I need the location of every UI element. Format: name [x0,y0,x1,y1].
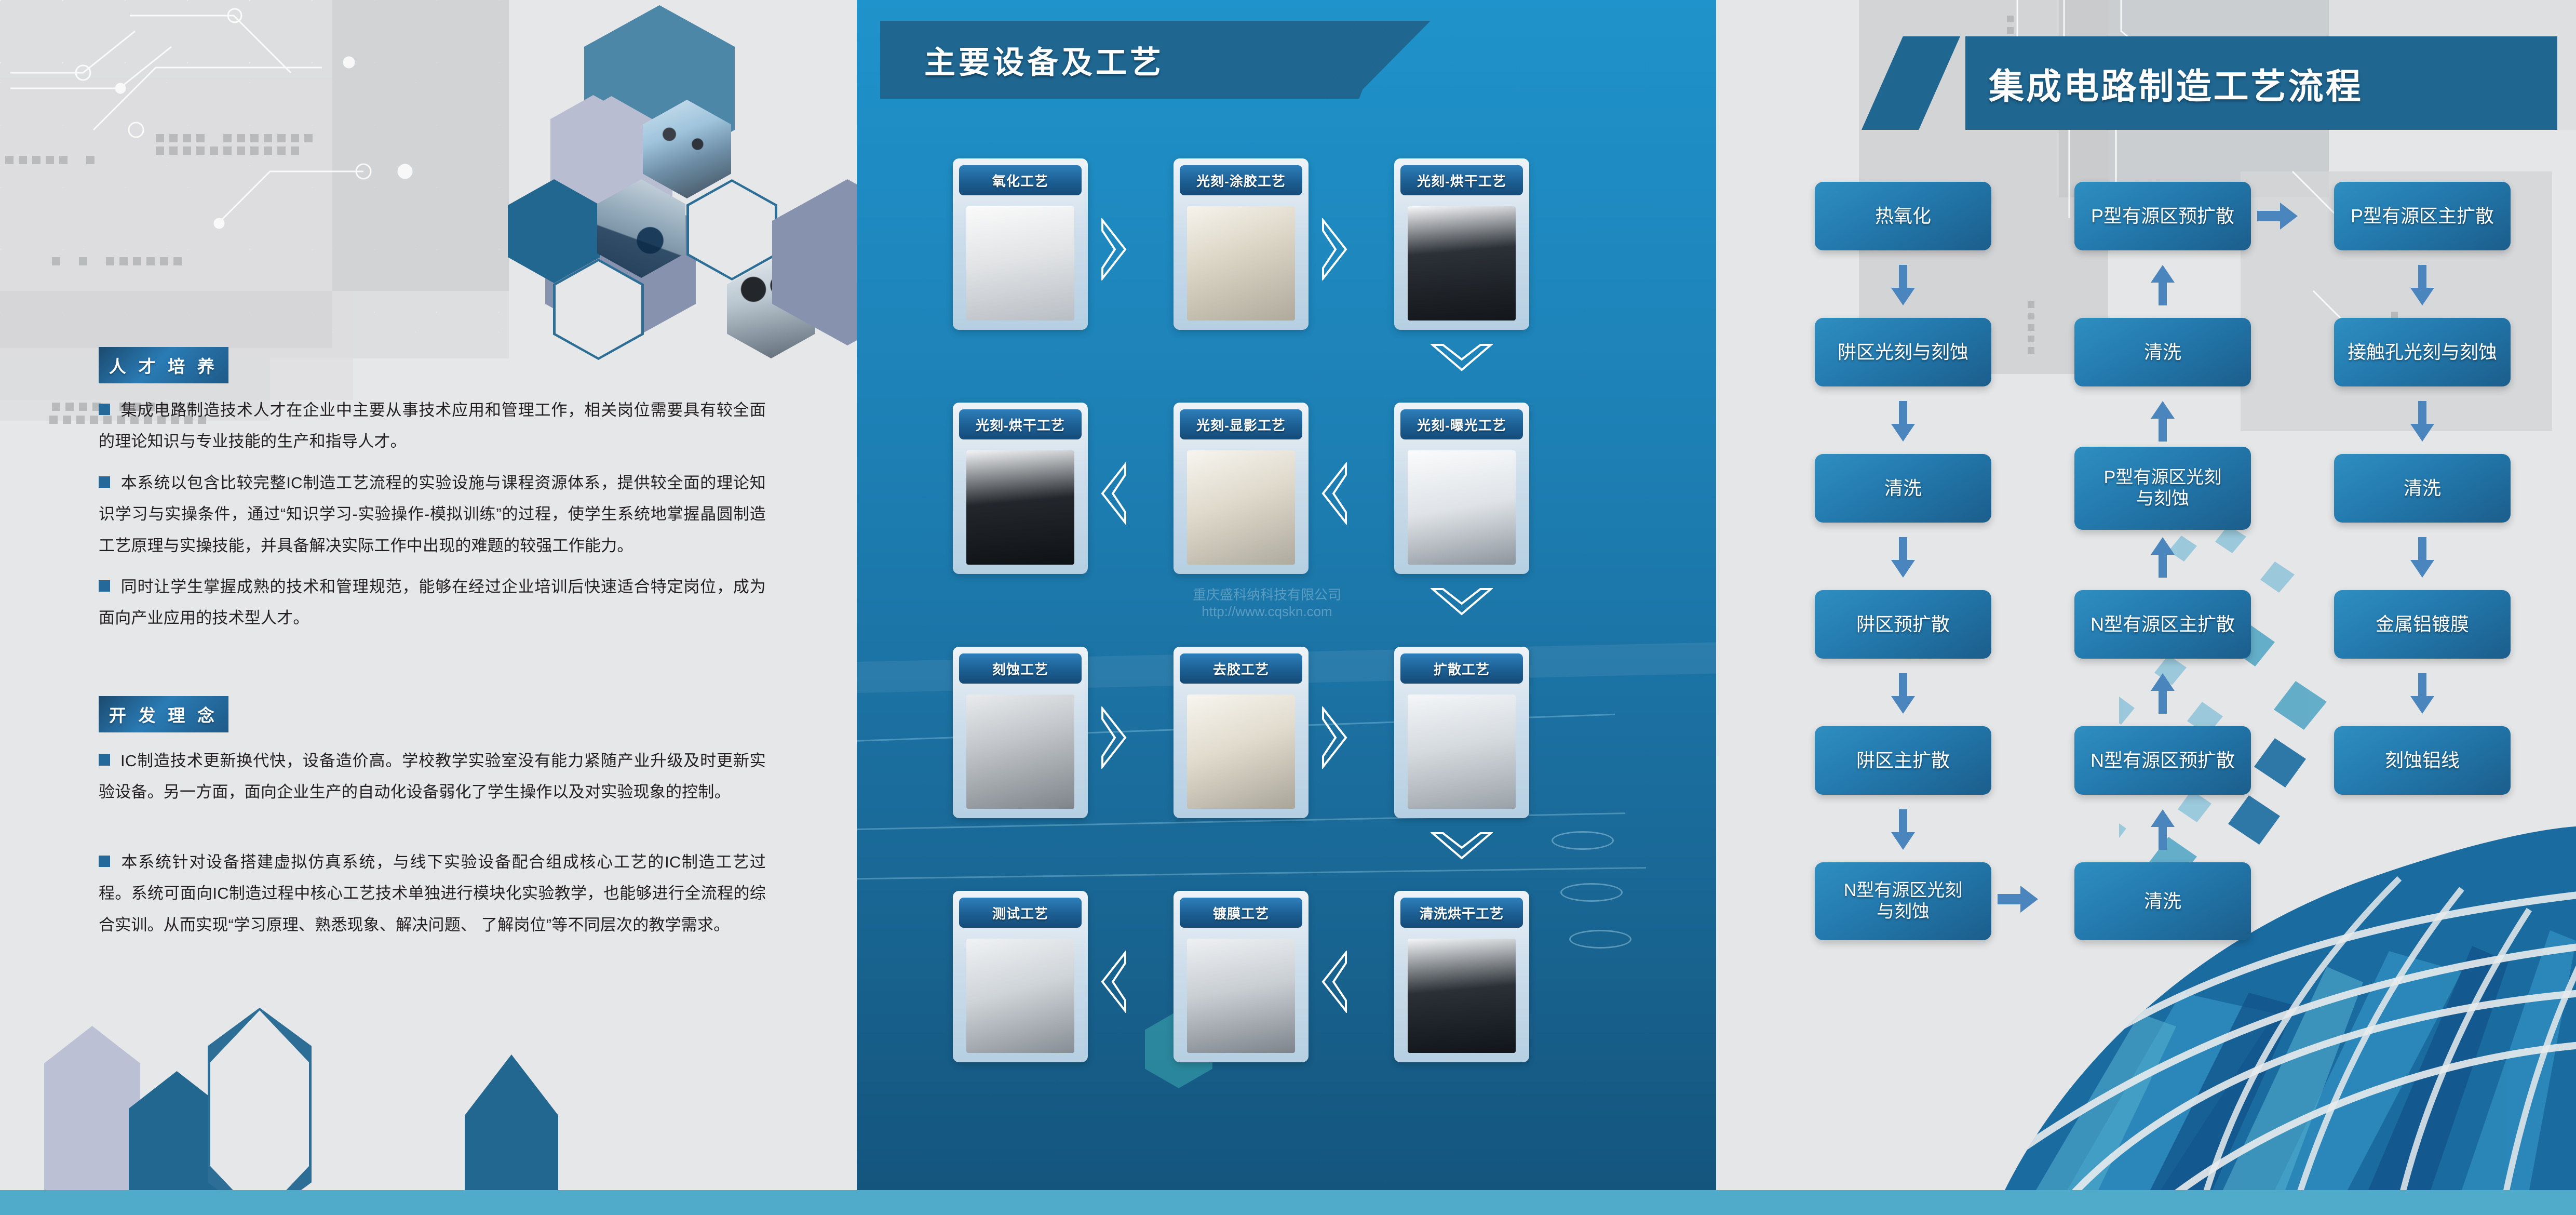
arrow-up-icon [2151,537,2175,578]
paragraph-text: 本系统针对设备搭建虚拟仿真系统，与线下实验设备配合组成核心工艺的IC制造工艺过程… [99,853,766,934]
equipment-label: 氧化工艺 [959,165,1082,195]
equipment-photo [1187,939,1295,1053]
paragraph-concept-2: 本系统针对设备搭建虚拟仿真系统，与线下实验设备配合组成核心工艺的IC制造工艺过程… [99,847,766,941]
arrow-up-icon [2151,673,2175,714]
paragraph-concept-1: IC制造技术更新换代快，设备造价高。学校教学实验室没有能力紧随产业升级及时更新实… [99,745,766,808]
equipment-card[interactable]: 扩散工艺 [1394,647,1529,818]
equipment-card[interactable]: 刻蚀工艺 [953,647,1088,818]
arrow-left-icon [1099,462,1128,525]
flow-box[interactable]: 阱区预扩散 [1815,590,1991,659]
paragraph-text: IC制造技术更新换代快，设备造价高。学校教学实验室没有能力紧随产业升级及时更新实… [99,752,766,801]
equipment-label: 测试工艺 [959,898,1082,928]
arrow-down-icon [1891,401,1915,442]
flow-box[interactable]: 阱区光刻与刻蚀 [1815,318,1991,386]
equipment-card[interactable]: 测试工艺 [953,891,1088,1062]
equipment-card[interactable]: 光刻-涂胶工艺 [1174,158,1309,330]
flow-box[interactable]: N型有源区预扩散 [2074,726,2251,795]
arrow-down-icon [1891,537,1915,578]
flow-box[interactable]: 刻蚀铝线 [2334,726,2511,795]
equipment-photo [1187,206,1295,321]
equipment-card[interactable]: 光刻-曝光工艺 [1394,403,1529,574]
hex-bottom-blue-2 [465,1054,558,1190]
arrow-down-icon [2410,265,2434,305]
equipment-card[interactable]: 光刻-显影工艺 [1174,403,1309,574]
equipment-row: 刻蚀工艺 去胶工艺 扩散工艺 [896,639,1675,883]
equipment-card[interactable]: 镀膜工艺 [1174,891,1309,1062]
right-panel-title-banner: 集成电路制造工艺流程 [1862,36,2557,130]
process-flowchart: 热氧化 阱区光刻与刻蚀 清洗 阱区预扩散 阱区主扩散 N型有源区光刻 与刻蚀 P… [1815,182,2552,951]
equipment-photo [966,695,1074,809]
arrow-down-icon [1891,809,1915,850]
bullet-icon [99,404,110,415]
equipment-photo [1408,450,1516,565]
hex-bottom-lavender [44,1026,140,1190]
left-panel: 人 才 培 养 集成电路制造技术人才在企业中主要从事技术应用和管理工作，相关岗位… [0,0,857,1190]
arrow-down-icon [2410,401,2434,442]
equipment-label: 光刻-涂胶工艺 [1180,165,1302,195]
arrow-left-icon [1099,951,1128,1013]
equipment-label: 清洗烘干工艺 [1400,898,1523,928]
flow-box[interactable]: 接触孔光刻与刻蚀 [2334,318,2511,386]
arrow-down-icon [1431,831,1493,863]
equipment-label: 光刻-显影工艺 [1180,409,1302,439]
equipment-card[interactable]: 光刻-烘干工艺 [1394,158,1529,330]
flow-box[interactable]: 清洗 [1815,454,1991,523]
equipment-photo [966,450,1074,565]
equipment-label: 光刻-烘干工艺 [1400,165,1523,195]
paragraph-talent-3: 同时让学生掌握成熟的技术和管理规范，能够在经过企业培训后快速适合特定岗位，成为面… [99,571,766,634]
arrow-down-icon [2410,537,2434,578]
flow-box[interactable]: P型有源区光刻 与刻蚀 [2074,447,2251,530]
equipment-row: 光刻-烘干工艺 光刻-显影工艺 光刻-曝光工艺 [896,395,1675,639]
paragraph-talent-2: 本系统以包含比较完整IC制造工艺流程的实验设施与课程资源体系，提供较全面的理论知… [99,468,766,562]
equipment-card[interactable]: 清洗烘干工艺 [1394,891,1529,1062]
equipment-card[interactable]: 去胶工艺 [1174,647,1309,818]
arrow-right-icon [2257,203,2298,230]
equipment-label: 镀膜工艺 [1180,898,1302,928]
equipment-photo [1408,206,1516,321]
bullet-icon [99,754,110,766]
flow-box[interactable]: N型有源区光刻 与刻蚀 [1815,862,1991,940]
flow-box[interactable]: 清洗 [2074,862,2251,940]
arrow-down-icon [1891,265,1915,305]
flow-box[interactable]: 清洗 [2334,454,2511,523]
arrow-down-icon [1431,343,1493,375]
arrow-right-icon [1320,218,1349,281]
flow-box[interactable]: P型有源区主扩散 [2334,182,2511,250]
equipment-photo [1187,450,1295,565]
arrow-down-icon [1891,673,1915,714]
arrow-up-icon [2151,401,2175,442]
arrow-down-icon [1431,587,1493,619]
bullet-icon [99,580,110,592]
bullet-icon [99,856,110,867]
arrow-left-icon [1320,951,1349,1013]
middle-panel-title: 主要设备及工艺 [924,21,1164,99]
equipment-photo [966,206,1074,321]
equipment-label: 刻蚀工艺 [959,653,1082,684]
equipment-photo [1187,695,1295,809]
bullet-icon [99,476,110,488]
equipment-photo [1408,939,1516,1053]
badge-development-concept: 开 发 理 念 [99,696,228,732]
equipment-label: 光刻-曝光工艺 [1400,409,1523,439]
arrow-right-icon [1099,218,1128,281]
middle-panel: 主要设备及工艺 氧化工艺 光刻-涂胶工艺 光刻-烘干工艺 [857,0,1716,1190]
circuit-lines-icon [0,0,519,405]
arrow-left-icon [1320,462,1349,525]
right-panel-title: 集成电路制造工艺流程 [1989,36,2363,130]
flow-box[interactable]: N型有源区主扩散 [2074,590,2251,659]
equipment-label: 扩散工艺 [1400,653,1523,684]
arrow-up-icon [2151,809,2175,850]
arrow-right-icon [1998,886,2038,913]
equipment-photo [966,939,1074,1053]
equipment-row: 氧化工艺 光刻-涂胶工艺 光刻-烘干工艺 [896,151,1675,395]
flow-box[interactable]: 阱区主扩散 [1815,726,1991,795]
right-panel: 集成电路制造工艺流程 [1716,0,2576,1190]
hex-bottom-outline [208,1008,312,1190]
paragraph-text: 同时让学生掌握成熟的技术和管理规范，能够在经过企业培训后快速适合特定岗位，成为面… [99,578,766,627]
title-slash-decor [1862,36,1960,130]
paragraph-text: 本系统以包含比较完整IC制造工艺流程的实验设施与课程资源体系，提供较全面的理论知… [99,474,766,555]
paragraph-talent-1: 集成电路制造技术人才在企业中主要从事技术应用和管理工作，相关岗位需要具有较全面的… [99,395,766,458]
badge-talent-training: 人 才 培 养 [99,347,228,383]
arrow-up-icon [2151,265,2175,305]
equipment-label: 去胶工艺 [1180,653,1302,684]
flow-box[interactable]: 清洗 [2074,318,2251,386]
arrow-down-icon [2410,673,2434,714]
bottom-strip [0,1190,2576,1215]
flow-box[interactable]: 热氧化 [1815,182,1991,250]
equipment-label: 光刻-烘干工艺 [959,409,1082,439]
flow-box[interactable]: P型有源区预扩散 [2074,182,2251,250]
equipment-row: 测试工艺 镀膜工艺 清洗烘干工艺 [896,883,1675,1127]
flow-box[interactable]: 金属铝镀膜 [2334,590,2511,659]
arrow-right-icon [1099,706,1128,769]
paragraph-text: 集成电路制造技术人才在企业中主要从事技术应用和管理工作，相关岗位需要具有较全面的… [99,401,766,450]
arrow-right-icon [1320,706,1349,769]
equipment-card[interactable]: 光刻-烘干工艺 [953,403,1088,574]
equipment-photo [1408,695,1516,809]
equipment-card[interactable]: 氧化工艺 [953,158,1088,330]
equipment-grid: 氧化工艺 光刻-涂胶工艺 光刻-烘干工艺 光 [896,151,1675,1127]
